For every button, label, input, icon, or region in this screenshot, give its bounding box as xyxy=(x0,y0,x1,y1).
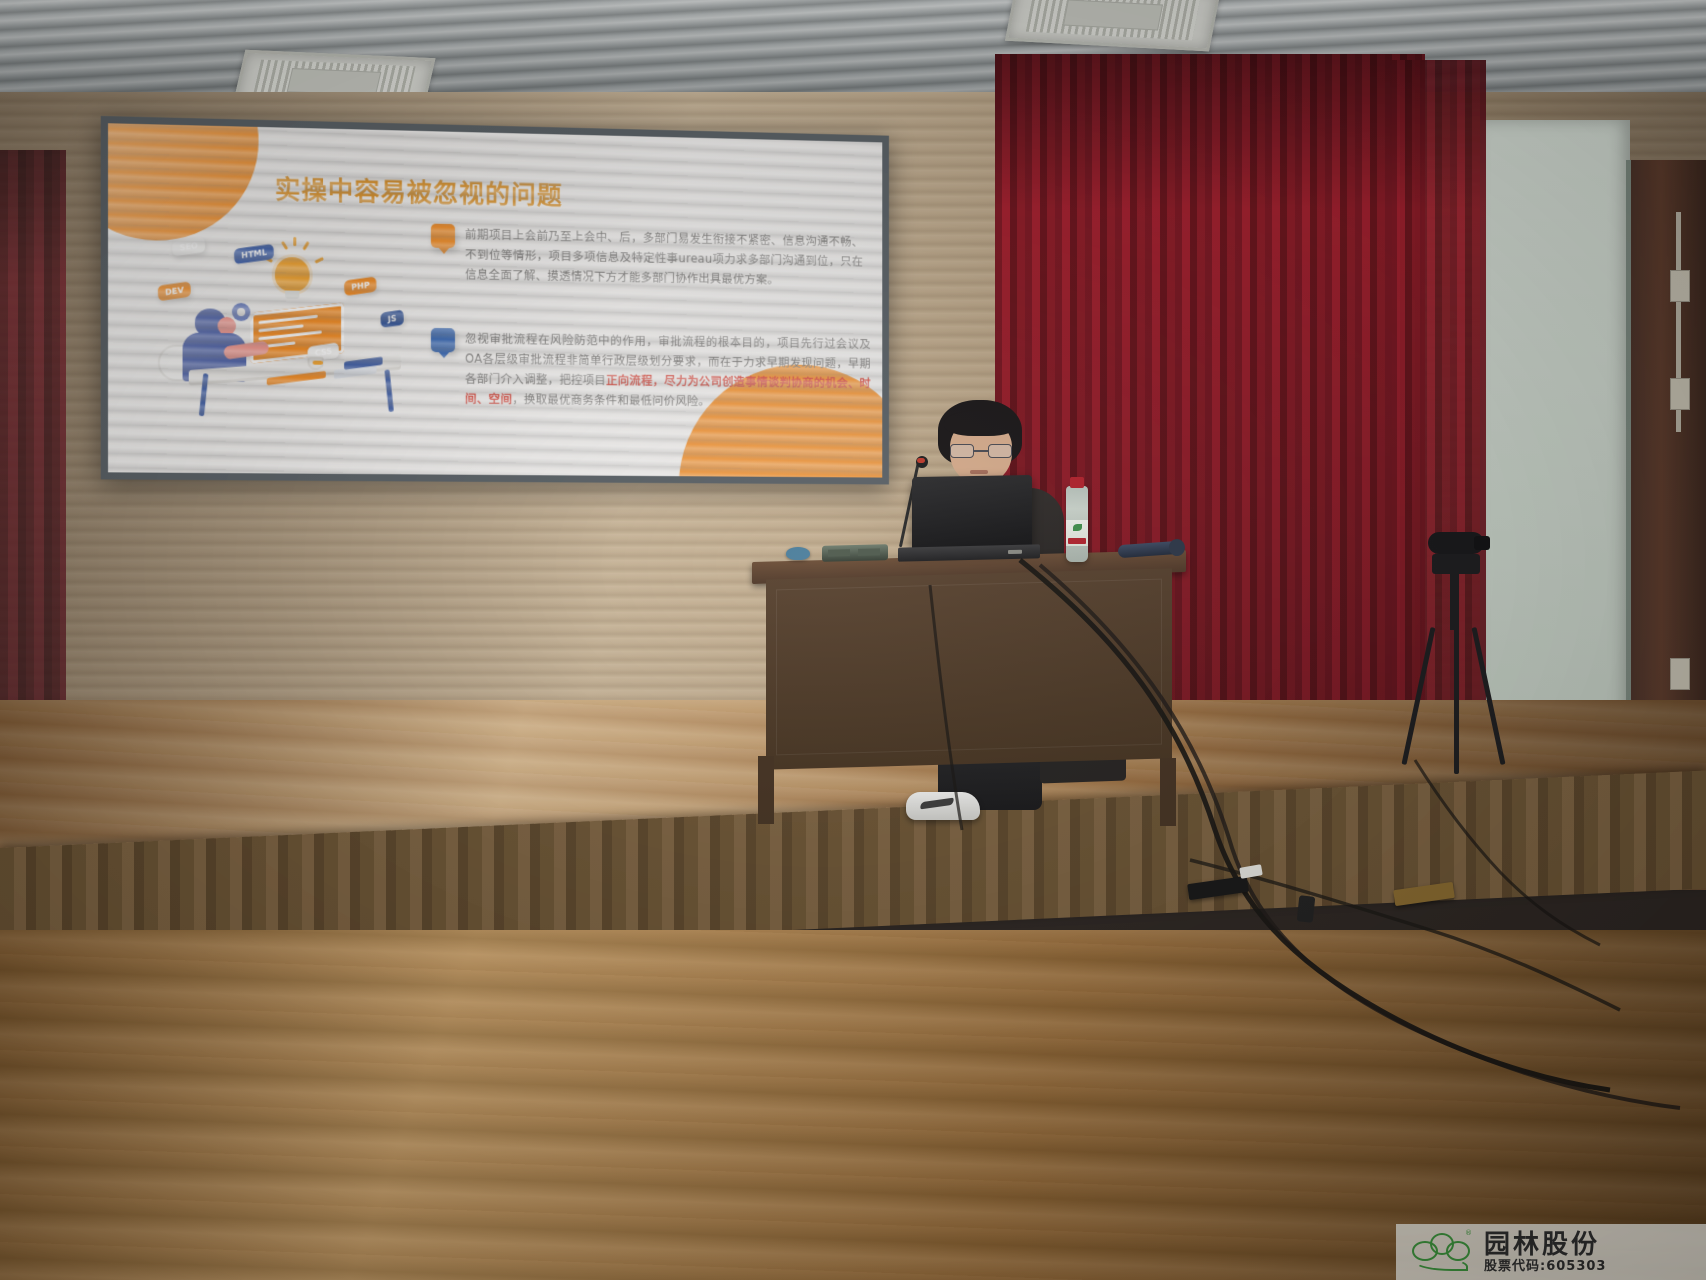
camera-tripod xyxy=(1404,530,1524,770)
tripod-leg xyxy=(1402,627,1436,765)
presenter-desk xyxy=(752,556,1186,826)
bulb-ray xyxy=(302,241,309,250)
company-watermark: ® 园林股份 股票代码:605303 xyxy=(1396,1224,1706,1280)
door-handle-plate xyxy=(1670,270,1690,302)
lightbulb-icon xyxy=(275,257,310,292)
bulb-ray xyxy=(281,241,288,250)
tripod-leg xyxy=(1454,626,1459,774)
registered-mark: ® xyxy=(1465,1229,1472,1237)
bulb-ray xyxy=(293,237,296,246)
bullet-marker-two: 二 xyxy=(431,328,455,352)
bullet-marker-one: 一 xyxy=(431,224,455,249)
tag-seo: SEO xyxy=(172,237,205,257)
desk-leg xyxy=(758,756,774,824)
bottle-cap xyxy=(1070,477,1084,488)
coffee-cup-icon xyxy=(308,356,324,369)
water-bottle xyxy=(1066,486,1088,562)
tag-php: PHP xyxy=(344,276,377,296)
bulb-ray xyxy=(314,257,324,264)
projected-slide: 实操中容易被忽视的问题 SEO HTML CSS P xyxy=(108,123,882,477)
stock-code: 股票代码:605303 xyxy=(1484,1260,1606,1273)
door-handle-plate xyxy=(1670,378,1690,410)
projection-screen-frame: 实操中容易被忽视的问题 SEO HTML CSS P xyxy=(101,116,889,485)
computer-mouse[interactable] xyxy=(786,547,810,560)
tripod-leg xyxy=(1472,627,1506,765)
mic-base-pad xyxy=(858,548,880,556)
presenter-mouth xyxy=(970,470,988,474)
conference-room-photo: 实操中容易被忽视的问题 SEO HTML CSS P xyxy=(0,0,1706,1280)
microphone-base xyxy=(822,544,888,562)
slide-bullet-1: 一 前期项目上会前乃至上会中、后，多部门易发生衔接不紧密、信息沟通不畅、不到位等… xyxy=(431,224,863,291)
slide-decoration-circle xyxy=(108,123,259,242)
ac-center-panel xyxy=(1063,0,1163,31)
presenter-glasses xyxy=(950,444,1012,458)
tag-dev: DEV xyxy=(158,281,192,301)
developer-at-desk-illustration: SEO HTML CSS PHP JS DEV xyxy=(143,230,408,432)
bottle-leaf-logo xyxy=(1073,524,1082,531)
tripod-column xyxy=(1450,570,1459,630)
door-kick-plate xyxy=(1670,658,1690,690)
watermark-text: 园林股份 股票代码:605303 xyxy=(1484,1232,1606,1273)
glasses-lens-left xyxy=(950,444,974,458)
bullet-text-2: 忽视审批流程在风险防范中的作用，审批流程的根本目的，项目先行过会议及OA各层级审… xyxy=(465,328,871,412)
laptop-indicator-led xyxy=(1008,550,1022,554)
camera-lens xyxy=(1474,536,1490,550)
bullet-2-part-c: ，换取最优商务条件和最低问价风险。 xyxy=(512,392,710,408)
company-logo-icon: ® xyxy=(1410,1231,1472,1273)
glasses-lens-right xyxy=(988,444,1012,458)
company-name: 园林股份 xyxy=(1484,1232,1606,1258)
glasses-bridge xyxy=(974,450,988,452)
desk-front-panel xyxy=(766,568,1172,769)
bottle-label xyxy=(1066,520,1088,546)
bottle-label-text xyxy=(1068,538,1086,544)
slide-bullet-2: 二 忽视审批流程在风险防范中的作用，审批流程的根本目的，项目先行过会议及OA各层… xyxy=(431,328,871,413)
gear-icon xyxy=(232,303,250,322)
laptop-screen[interactable] xyxy=(912,475,1032,551)
power-adapter xyxy=(1297,895,1316,923)
stage-curtain-left xyxy=(0,150,66,750)
microphone-head xyxy=(916,456,928,468)
mic-base-pad xyxy=(828,549,850,557)
presenter-fringe xyxy=(944,410,1018,436)
desk-leg xyxy=(1160,758,1176,826)
desk-leg xyxy=(384,369,393,412)
bullet-text-1: 前期项目上会前乃至上会中、后，多部门易发生衔接不紧密、信息沟通不畅、不到位等情形… xyxy=(465,224,863,291)
tag-js: JS xyxy=(380,310,403,328)
slide-title: 实操中容易被忽视的问题 xyxy=(275,170,563,212)
